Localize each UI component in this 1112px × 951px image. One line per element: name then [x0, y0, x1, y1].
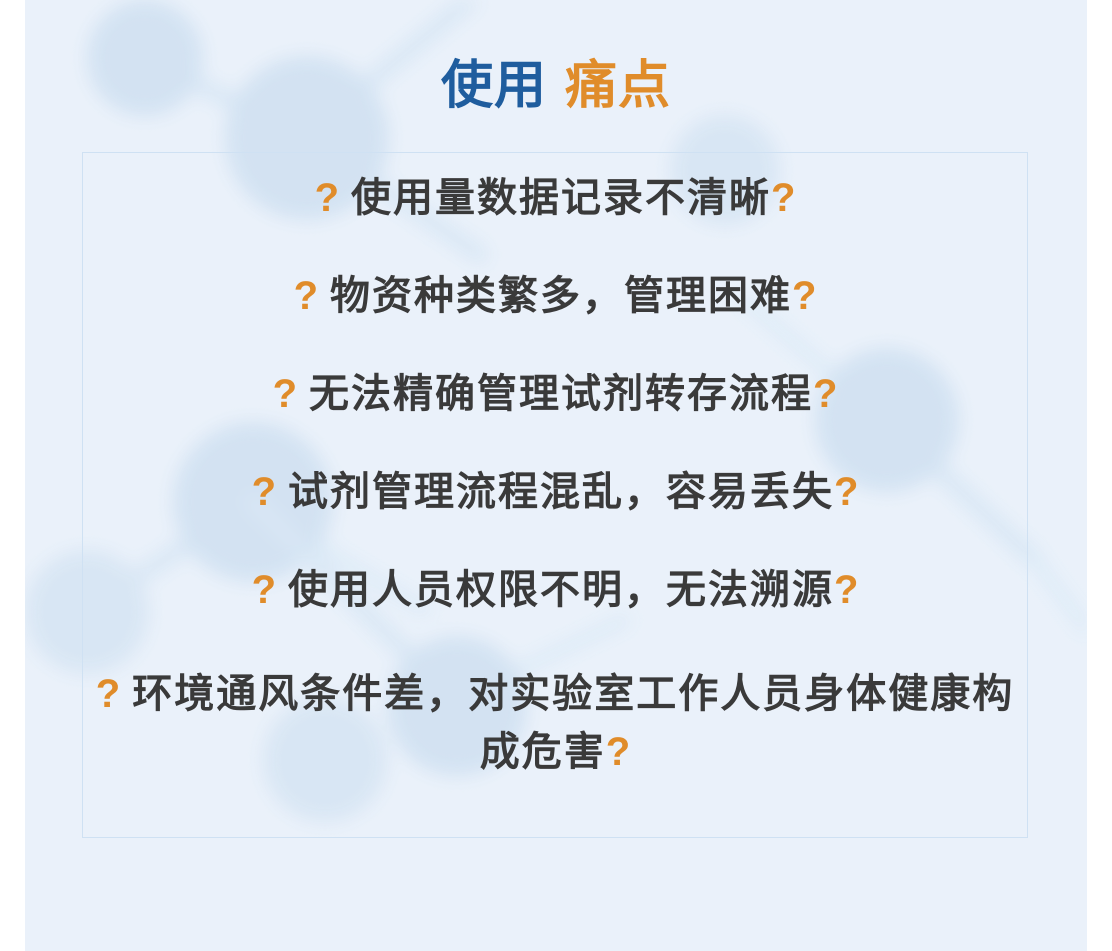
list-item-label: 使用量数据记录不清晰: [351, 176, 771, 220]
question-mark-icon: ?: [252, 568, 276, 612]
slide-canvas: 使用痛点 ?使用量数据记录不清晰? ?物资种类繁多，管理困难? ?无法精确管理试…: [25, 0, 1087, 951]
page-title-primary: 使用: [441, 57, 547, 115]
question-mark-icon: ?: [315, 176, 339, 220]
question-mark-icon: ?: [813, 372, 837, 416]
page-title-accent: 痛点: [565, 57, 671, 115]
question-mark-icon: ?: [771, 176, 795, 220]
question-mark-icon: ?: [606, 730, 630, 774]
list-item-label: 试剂管理流程混乱，容易丢失: [288, 470, 834, 514]
list-item: ?环境通风条件差，对实验室工作人员身体健康构成危害?: [83, 665, 1027, 781]
pain-points-list: ?使用量数据记录不清晰? ?物资种类繁多，管理困难? ?无法精确管理试剂转存流程…: [83, 153, 1027, 837]
question-mark-icon: ?: [834, 470, 858, 514]
list-item-label: 使用人员权限不明，无法溯源: [288, 568, 834, 612]
list-item: ?使用量数据记录不清晰?: [83, 175, 1027, 221]
list-item: ?物资种类繁多，管理困难?: [83, 273, 1027, 319]
list-item-label: 物资种类繁多，管理困难: [330, 274, 792, 318]
question-mark-icon: ?: [834, 568, 858, 612]
question-mark-icon: ?: [294, 274, 318, 318]
page-title: 使用痛点: [25, 58, 1087, 115]
slide-page: 使用痛点 ?使用量数据记录不清晰? ?物资种类繁多，管理困难? ?无法精确管理试…: [0, 0, 1112, 951]
question-mark-icon: ?: [252, 470, 276, 514]
question-mark-icon: ?: [96, 672, 120, 716]
question-mark-icon: ?: [792, 274, 816, 318]
pain-points-box: ?使用量数据记录不清晰? ?物资种类繁多，管理困难? ?无法精确管理试剂转存流程…: [82, 152, 1028, 838]
list-item-label: 无法精确管理试剂转存流程: [309, 372, 813, 416]
list-item-label: 环境通风条件差，对实验室工作人员身体健康构成危害: [132, 672, 1014, 774]
list-item: ?试剂管理流程混乱，容易丢失?: [83, 469, 1027, 515]
question-mark-icon: ?: [273, 372, 297, 416]
list-item: ?使用人员权限不明，无法溯源?: [83, 567, 1027, 613]
list-item: ?无法精确管理试剂转存流程?: [83, 371, 1027, 417]
